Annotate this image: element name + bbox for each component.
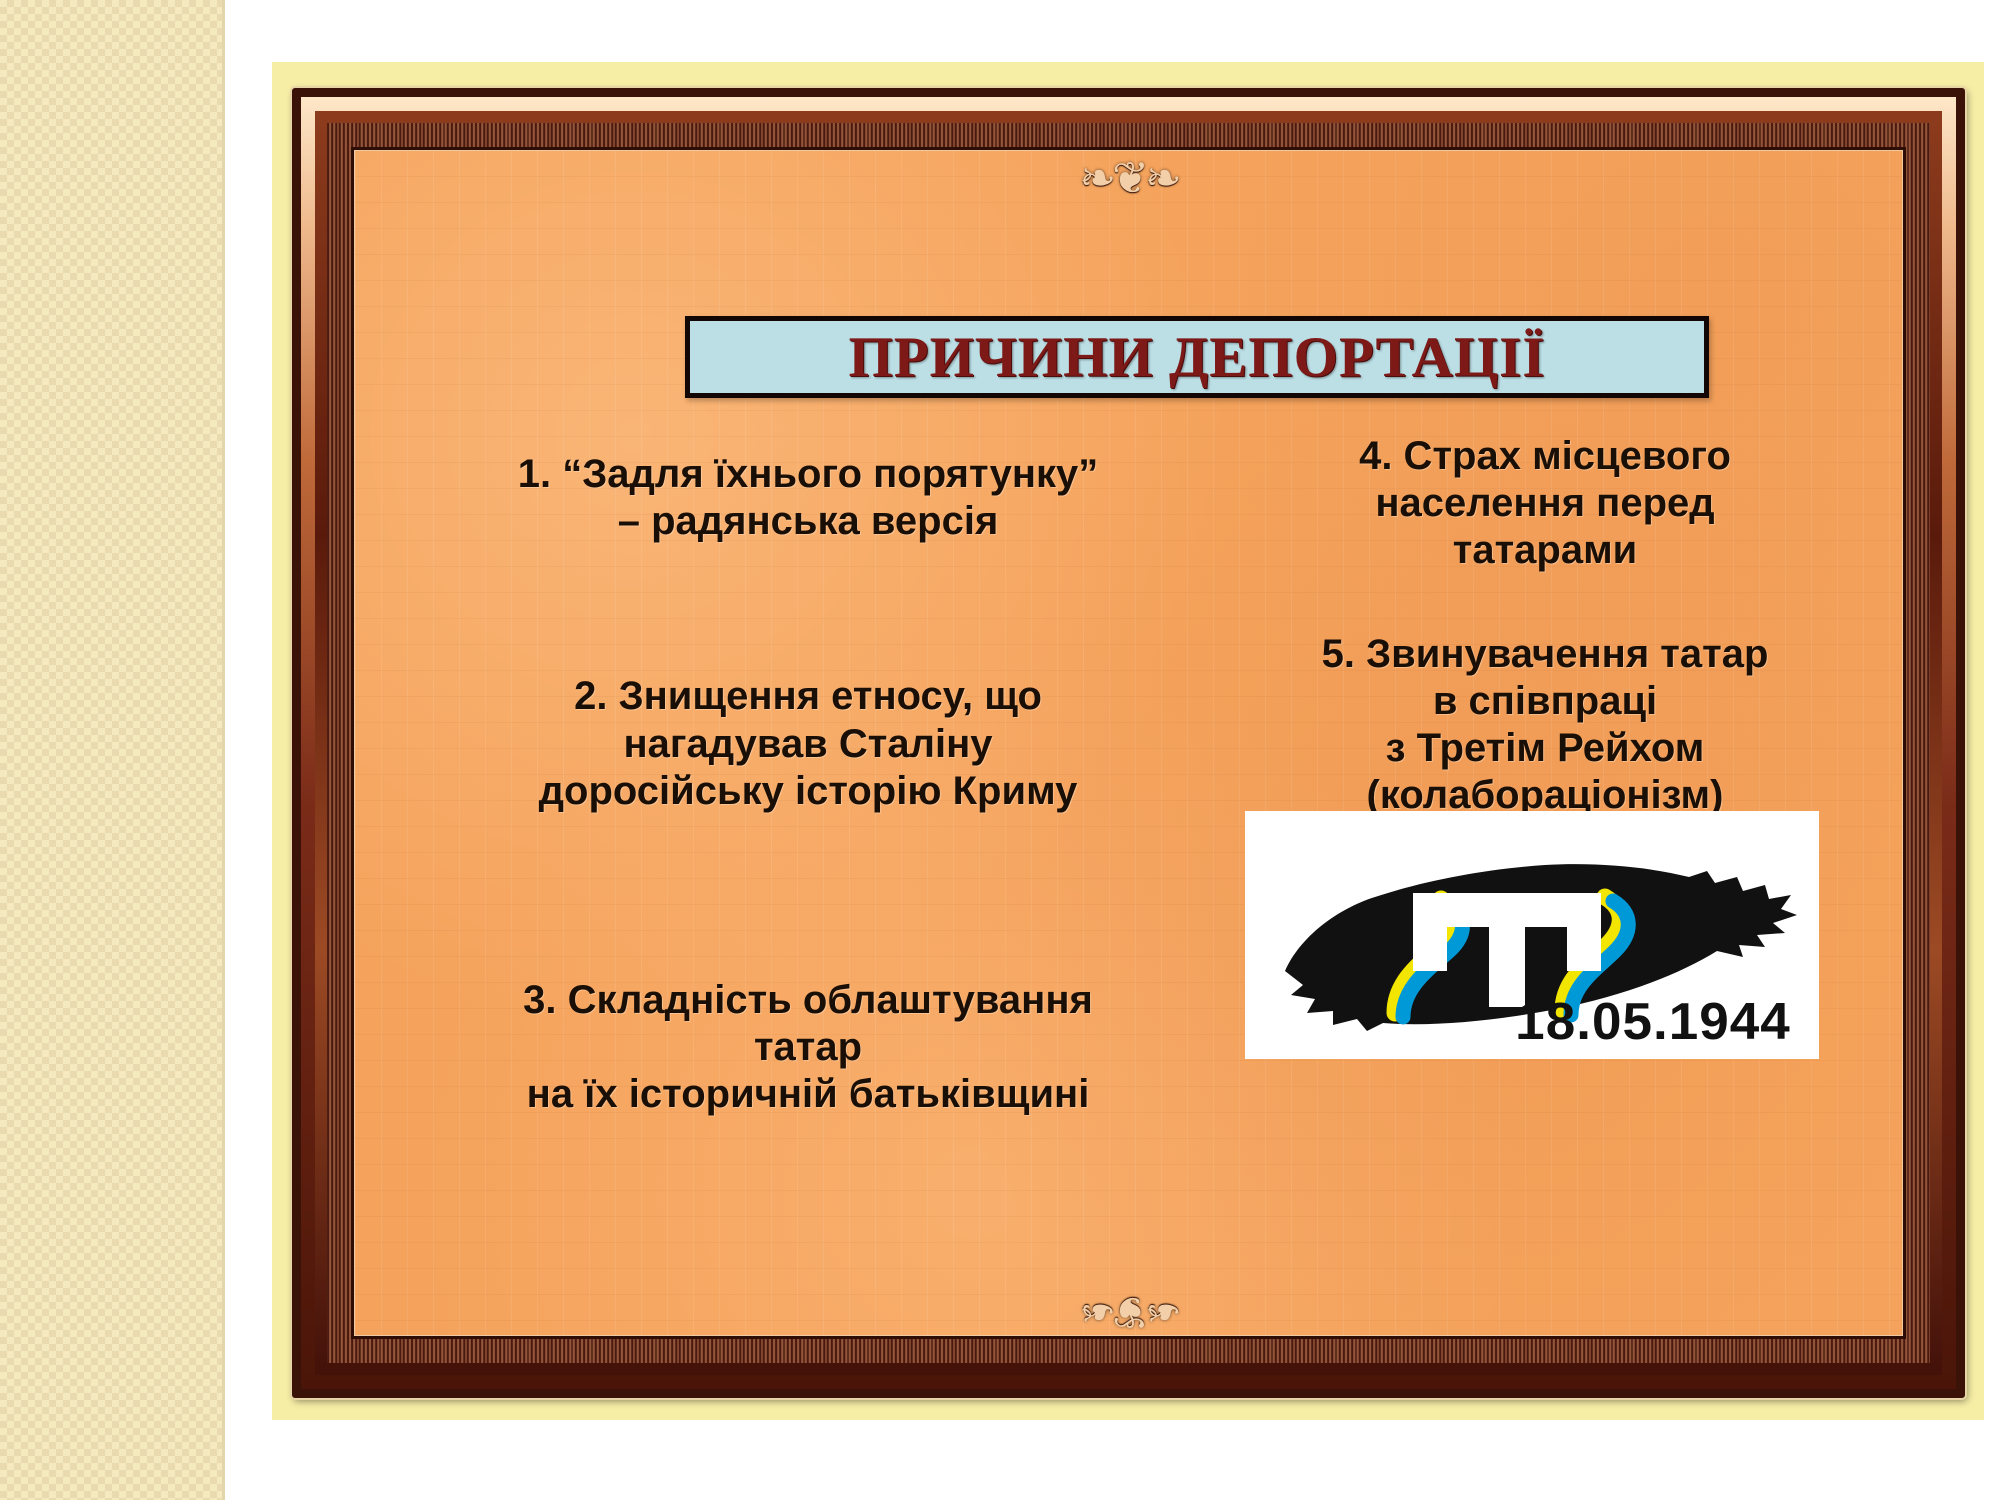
deportation-emblem-card: 18.05.1944 [1245, 811, 1819, 1059]
page-title: ПРИЧИНИ ДЕПОРТАЦІЇ [848, 329, 1545, 386]
scrollwork-ornament-icon: ❧❦❧ [1079, 157, 1178, 201]
reason-line: 3. Складність облаштування [413, 977, 1203, 1024]
reason-line: 2. Знищення етносу, що [413, 673, 1203, 720]
slide-content-area: ❧❦❧ ❧❦❧ ПРИЧИНИ ДЕПОРТАЦІЇ 1. “Задля їхн… [355, 151, 1902, 1335]
emblem-date-text: 18.05.1944 [1515, 992, 1791, 1050]
reason-line: доросійську історію Криму [413, 768, 1203, 815]
reason-line: татар [413, 1024, 1203, 1071]
reasons-column-left: 1. “Задля їхнього порятунку” – радянська… [413, 451, 1203, 1119]
reason-item-3: 3. Складність облаштування татар на їх і… [413, 977, 1203, 1119]
slide-page: ❧❦❧ ❧❦❧ ПРИЧИНИ ДЕПОРТАЦІЇ 1. “Задля їхн… [0, 0, 2000, 1500]
reason-item-4: 4. Страх місцевого населення перед татар… [1235, 433, 1855, 575]
reason-line: нагадував Сталіну [413, 721, 1203, 768]
crimean-tatar-tamga-icon: 18.05.1944 [1245, 811, 1819, 1059]
scrollwork-ornament-bottom-icon: ❧❦❧ [1079, 1289, 1178, 1333]
notes-panel-strip [0, 0, 225, 1500]
reason-line: населення перед [1235, 480, 1855, 527]
slide-canvas: ❧❦❧ ❧❦❧ ПРИЧИНИ ДЕПОРТАЦІЇ 1. “Задля їхн… [272, 62, 1984, 1420]
reason-line: 1. “Задля їхнього порятунку” [413, 451, 1203, 498]
reason-line: 4. Страх місцевого [1235, 433, 1855, 480]
reason-item-5: 5. Звинувачення татар в співпраці з Трет… [1235, 631, 1855, 820]
reason-line: 5. Звинувачення татар [1235, 631, 1855, 678]
reason-item-2: 2. Знищення етносу, що нагадував Сталіну… [413, 673, 1203, 815]
reason-line: на їх історичній батьківщині [413, 1071, 1203, 1118]
reason-item-1: 1. “Задля їхнього порятунку” – радянська… [413, 451, 1203, 545]
reason-line: – радянська версія [413, 498, 1203, 545]
reason-line: в співпраці [1235, 678, 1855, 725]
reason-line: татарами [1235, 527, 1855, 574]
reason-line: з Третім Рейхом [1235, 725, 1855, 772]
reasons-column-right: 4. Страх місцевого населення перед татар… [1235, 433, 1855, 819]
picture-frame-outer: ❧❦❧ ❧❦❧ ПРИЧИНИ ДЕПОРТАЦІЇ 1. “Задля їхн… [292, 88, 1965, 1398]
slide-title-banner: ПРИЧИНИ ДЕПОРТАЦІЇ [685, 316, 1709, 398]
